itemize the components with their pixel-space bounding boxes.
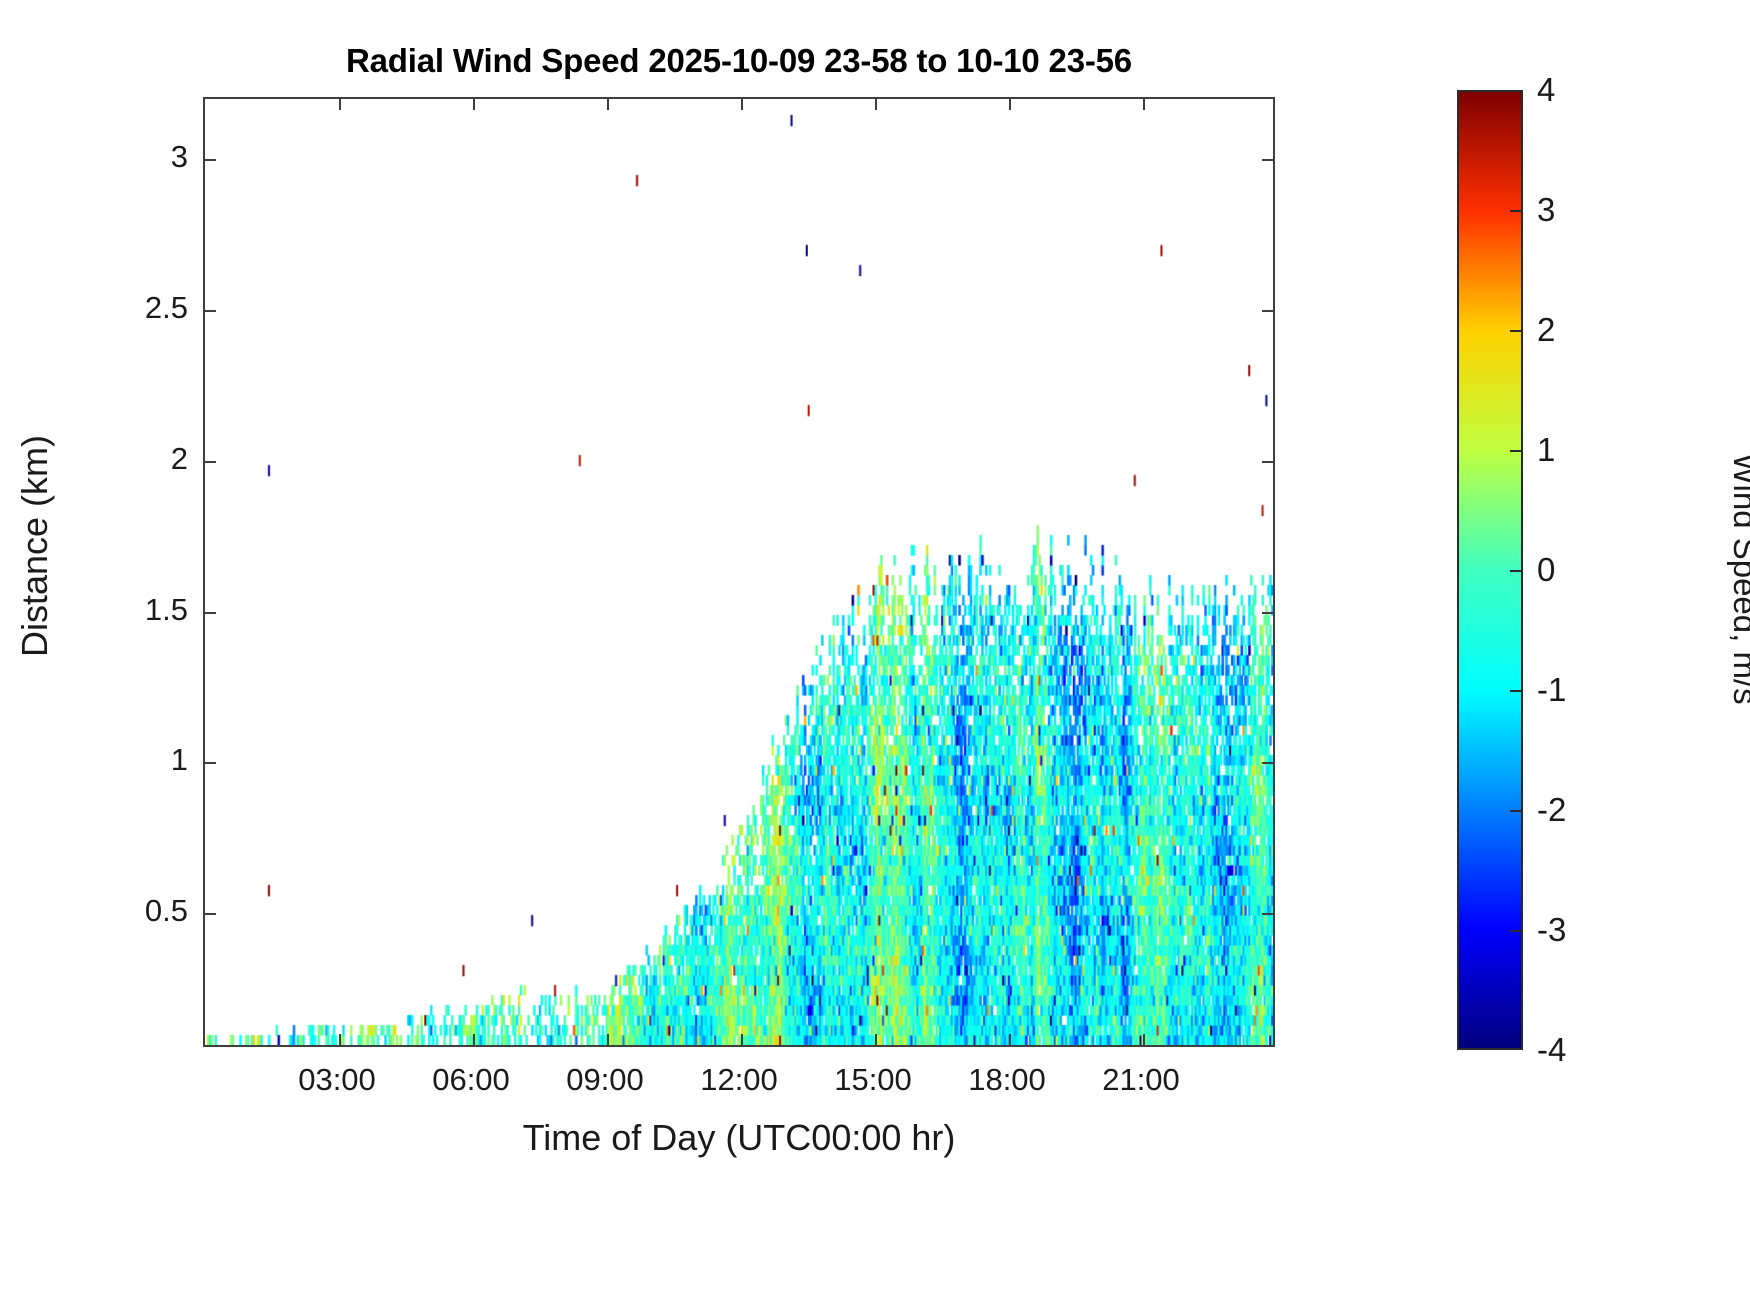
x-tick-mark-top <box>1143 99 1145 110</box>
y-tick-label: 2.5 <box>145 290 188 326</box>
colorbar-tick-mark <box>1510 210 1523 212</box>
x-tick-mark-top <box>607 99 609 110</box>
x-tick-mark <box>1009 1034 1011 1045</box>
colorbar-tick-mark <box>1510 690 1523 692</box>
colorbar-tick-label: 4 <box>1537 71 1555 109</box>
colorbar-tick-label: -1 <box>1537 671 1566 709</box>
x-tick-mark <box>741 1034 743 1045</box>
x-tick-label: 06:00 <box>432 1062 510 1098</box>
y-tick-mark <box>205 461 216 463</box>
colorbar: -4-3-2-101234 <box>1457 90 1523 1050</box>
x-tick-mark-top <box>741 99 743 110</box>
x-tick-label: 15:00 <box>834 1062 912 1098</box>
y-tick-mark-right <box>1262 612 1273 614</box>
plot-area <box>203 97 1275 1047</box>
x-axis-tick-labels: 03:0006:0009:0012:0015:0018:0021:00 <box>203 1062 1275 1107</box>
y-axis-title: Distance (km) <box>14 166 56 926</box>
x-tick-label: 21:00 <box>1102 1062 1180 1098</box>
colorbar-tick-label: 3 <box>1537 191 1555 229</box>
y-tick-mark <box>205 762 216 764</box>
x-tick-label: 03:00 <box>298 1062 376 1098</box>
y-tick-label: 2 <box>171 441 188 477</box>
x-tick-mark <box>339 1034 341 1045</box>
y-axis-tick-labels: 0.511.522.53 <box>103 97 188 1047</box>
colorbar-tick-label: 1 <box>1537 431 1555 469</box>
chart-page: Radial Wind Speed 2025-10-09 23-58 to 10… <box>0 0 1750 1313</box>
x-axis-title: Time of Day (UTC00:00 hr) <box>203 1117 1275 1159</box>
y-tick-mark <box>205 310 216 312</box>
y-tick-mark <box>205 612 216 614</box>
x-tick-mark-top <box>875 99 877 110</box>
y-tick-mark-right <box>1262 159 1273 161</box>
colorbar-tick-mark <box>1510 570 1523 572</box>
y-tick-label: 0.5 <box>145 893 188 929</box>
y-tick-label: 3 <box>171 139 188 175</box>
page-title: Radial Wind Speed 2025-10-09 23-58 to 10… <box>203 42 1275 80</box>
colorbar-tick-label: -3 <box>1537 911 1566 949</box>
heatmap-canvas <box>205 99 1273 1045</box>
y-tick-mark-right <box>1262 762 1273 764</box>
colorbar-tick-mark <box>1510 450 1523 452</box>
y-tick-mark-right <box>1262 461 1273 463</box>
colorbar-tick-mark <box>1510 930 1523 932</box>
x-tick-mark <box>1143 1034 1145 1045</box>
y-tick-mark-right <box>1262 913 1273 915</box>
colorbar-tick-label: 0 <box>1537 551 1555 589</box>
y-tick-label: 1 <box>171 742 188 778</box>
colorbar-tick-mark <box>1510 330 1523 332</box>
colorbar-tick-label: -4 <box>1537 1031 1566 1069</box>
x-tick-mark-top <box>473 99 475 110</box>
x-tick-mark-top <box>339 99 341 110</box>
x-tick-mark <box>875 1034 877 1045</box>
y-tick-mark-right <box>1262 310 1273 312</box>
colorbar-title: Wind Speed, m/s <box>1726 269 1750 889</box>
y-tick-mark <box>205 913 216 915</box>
colorbar-tick-label: -2 <box>1537 791 1566 829</box>
y-tick-label: 1.5 <box>145 592 188 628</box>
colorbar-tick-mark <box>1510 810 1523 812</box>
x-tick-label: 18:00 <box>968 1062 1046 1098</box>
x-tick-mark-top <box>1009 99 1011 110</box>
x-tick-mark <box>607 1034 609 1045</box>
x-tick-mark <box>473 1034 475 1045</box>
x-tick-label: 09:00 <box>566 1062 644 1098</box>
colorbar-tick-label: 2 <box>1537 311 1555 349</box>
x-tick-label: 12:00 <box>700 1062 778 1098</box>
y-tick-mark <box>205 159 216 161</box>
